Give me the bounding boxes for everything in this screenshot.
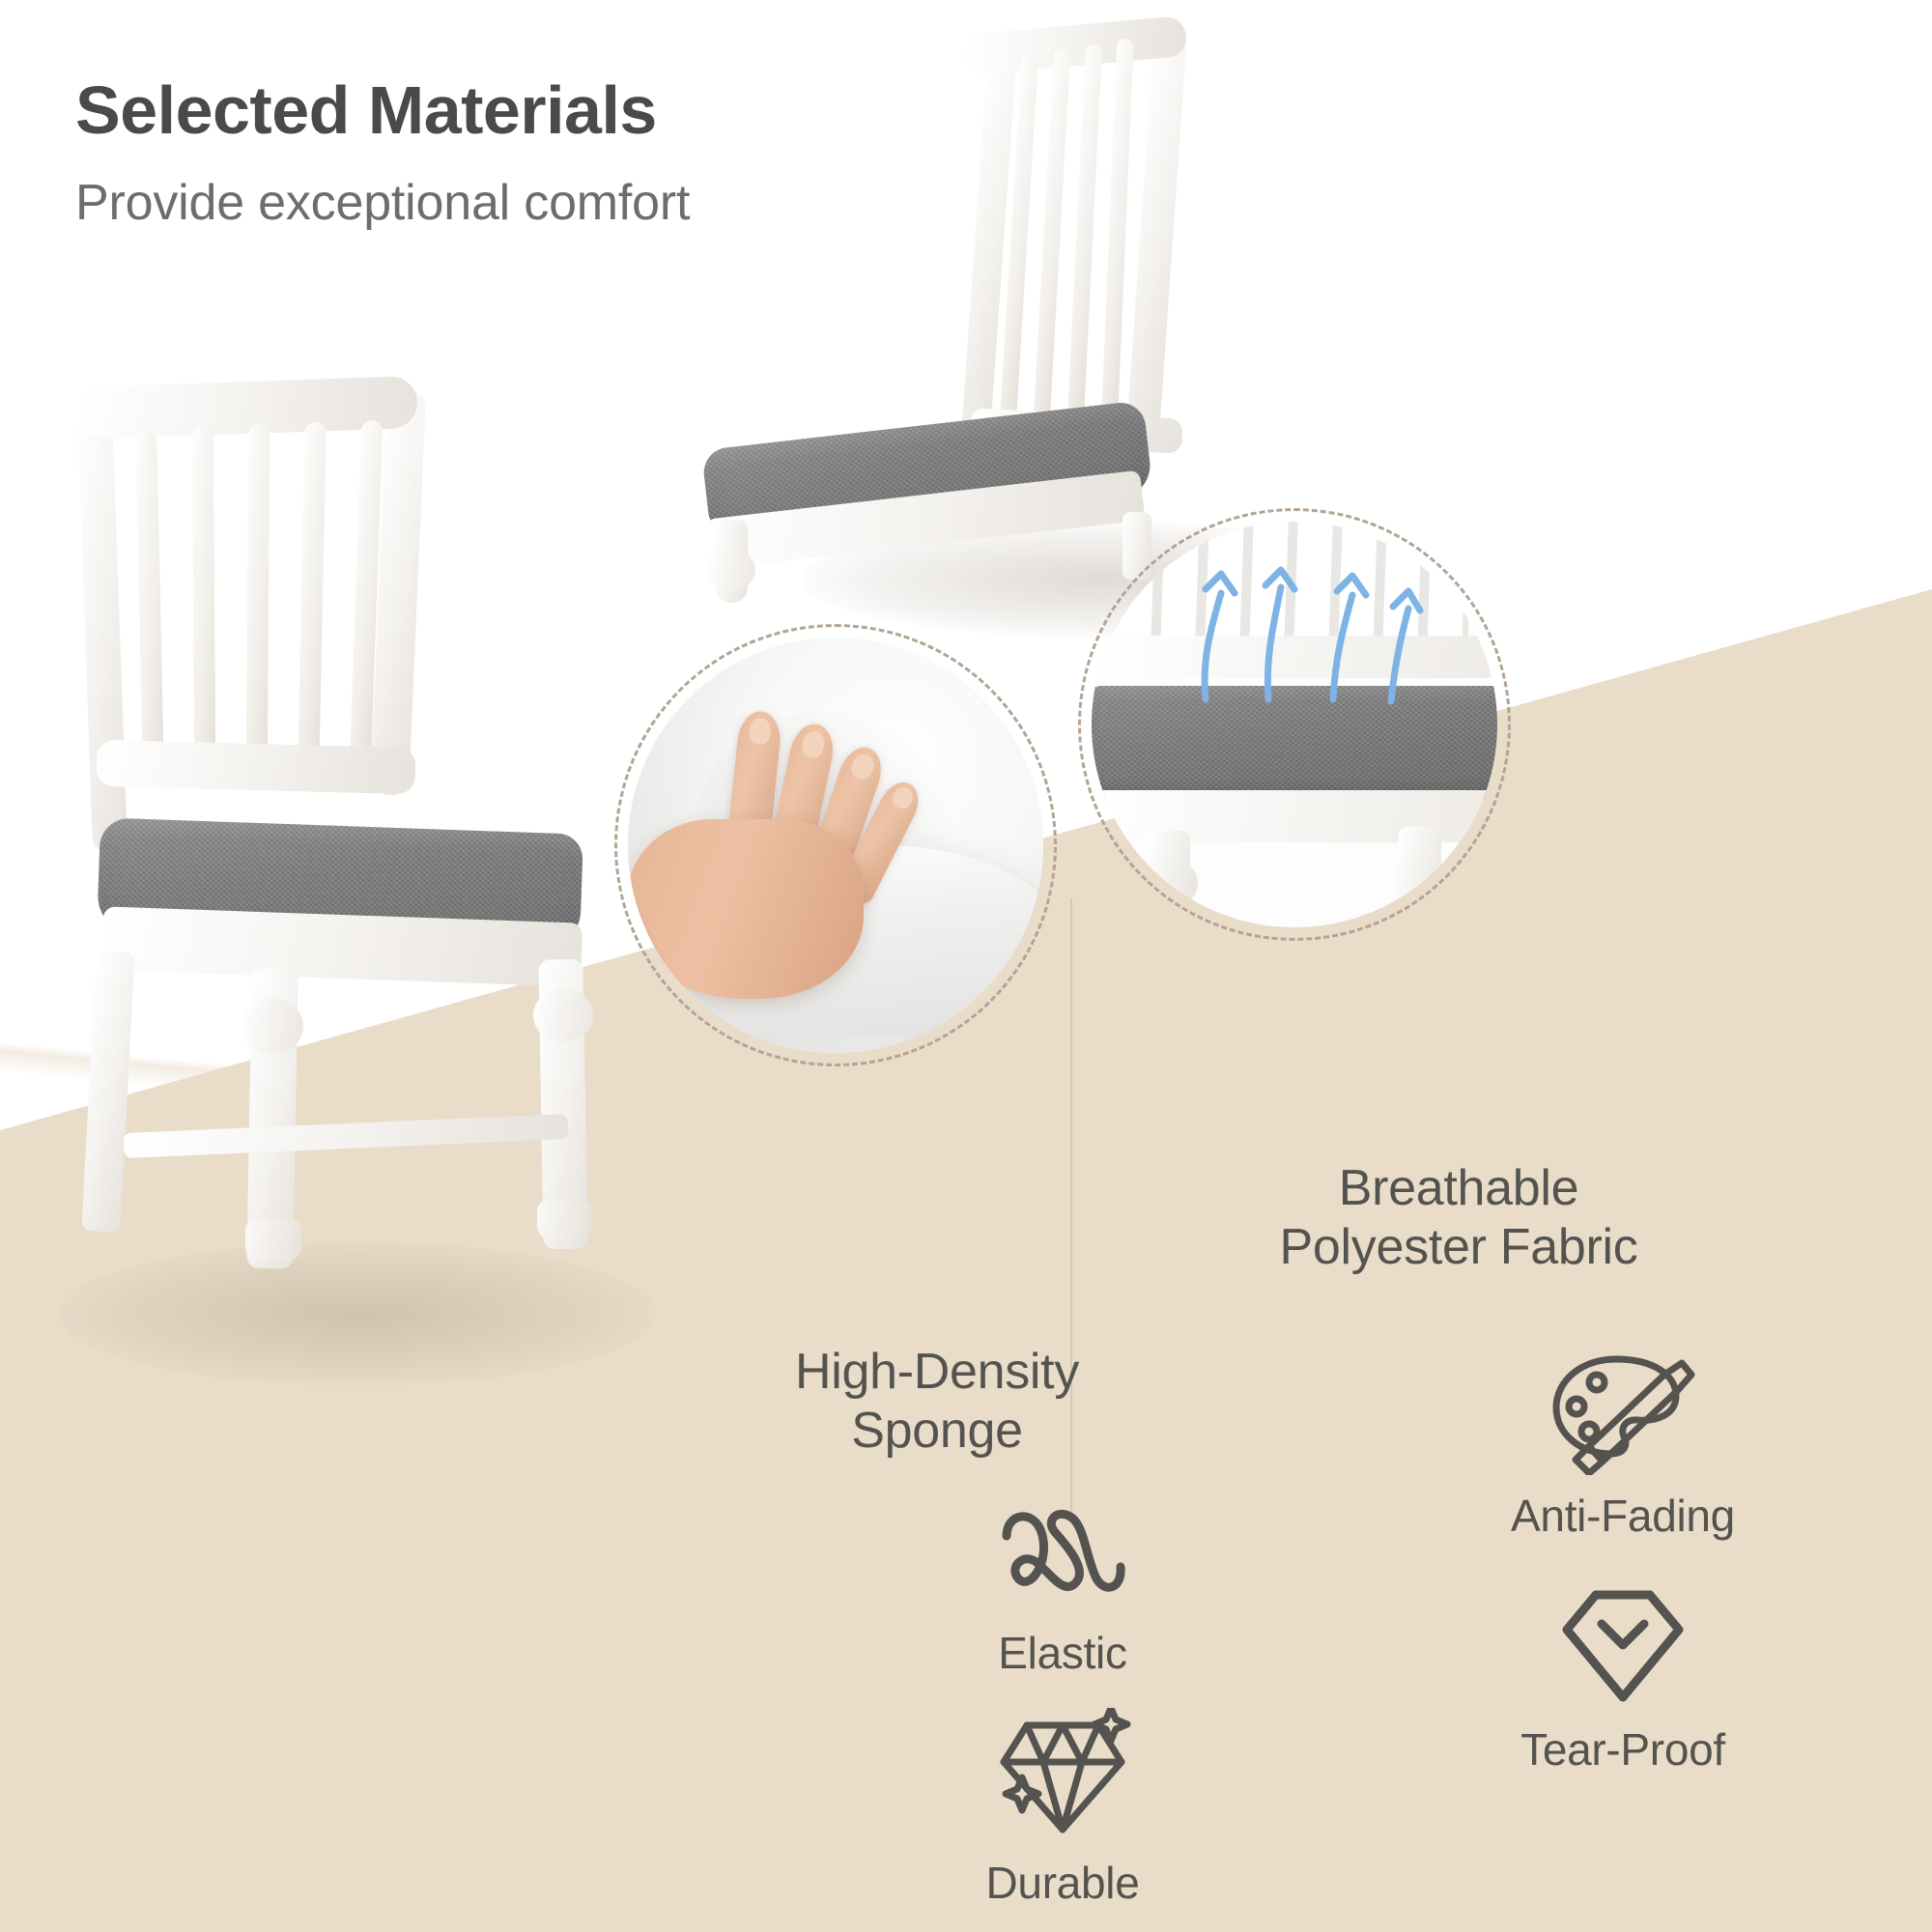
product-image-chair-front [39,372,657,1338]
paint-palette-icon [1550,1351,1695,1475]
chair-front-leg-rear-left [81,951,134,1233]
chair-front-stretcher [124,1114,569,1158]
sponge-caption-line-2: Sponge [667,1402,1207,1461]
chair-rear-leg-turning [707,549,755,591]
breathable-fabric-caption: Breathable Polyester Fabric [1072,1159,1845,1278]
inset-leg-left-turning [1140,858,1198,908]
diamond-gem-icon [990,1708,1135,1843]
anti-fading-icon-label: Anti-Fading [1439,1490,1806,1542]
chair-front-shadow [58,1241,657,1386]
chair-front-slat-4 [298,422,327,772]
chair-front-leg-front-left-foot [245,1220,301,1261]
page-title: Selected Materials [75,75,690,147]
chair-front-leg-front-left-turning [241,998,303,1054]
feature-icon-elastic: Elastic [898,1497,1227,1679]
page-subtitle: Provide exceptional comfort [75,176,690,231]
spring-coil-icon [995,1503,1130,1607]
chair-front-lower-back-rail [96,740,415,795]
infographic-canvas: Selected Materials Provide exceptional c… [0,0,1932,1932]
breathable-fabric-inset [1092,522,1497,927]
header-block: Selected Materials Provide exceptional c… [75,75,690,231]
chair-rear-slat-3 [1066,44,1102,439]
fabric-caption-line-1: Breathable [1072,1159,1845,1218]
shield-diamond-icon [1559,1587,1687,1707]
hand-pressing-foam [628,726,908,997]
durable-icon-wrap [898,1708,1227,1843]
high-density-sponge-caption: High-Density Sponge [667,1343,1207,1462]
chair-front-slat-1 [135,430,163,773]
feature-icon-tear-proof: Tear-Proof [1439,1584,1806,1776]
inset-leg-right-turning [1391,854,1449,904]
tear-proof-icon-label: Tear-Proof [1439,1723,1806,1776]
chair-rear-slat-4 [1100,39,1133,437]
high-density-sponge-inset [628,638,1043,1053]
chair-front-leg-front-right-turning [533,988,593,1042]
sponge-caption-line-1: High-Density [667,1343,1207,1402]
feature-icon-durable: Durable [898,1708,1227,1909]
chair-rear-slat-2 [1033,48,1071,439]
chair-front-slat-3 [246,424,270,772]
airflow-arrows-icon [1177,564,1428,709]
durable-icon-label: Durable [898,1857,1227,1909]
elastic-icon-label: Elastic [898,1627,1227,1679]
tear-proof-icon-wrap [1439,1584,1806,1710]
elastic-icon-wrap [898,1497,1227,1613]
chair-front-slat-2 [192,426,215,772]
chair-front-leg-front-right-foot [537,1201,591,1239]
chair-rear-back-right-post [1125,26,1188,452]
feature-icon-anti-fading: Anti-Fading [1439,1350,1806,1542]
fabric-caption-line-2: Polyester Fabric [1072,1218,1845,1277]
anti-fading-icon-wrap [1439,1350,1806,1476]
